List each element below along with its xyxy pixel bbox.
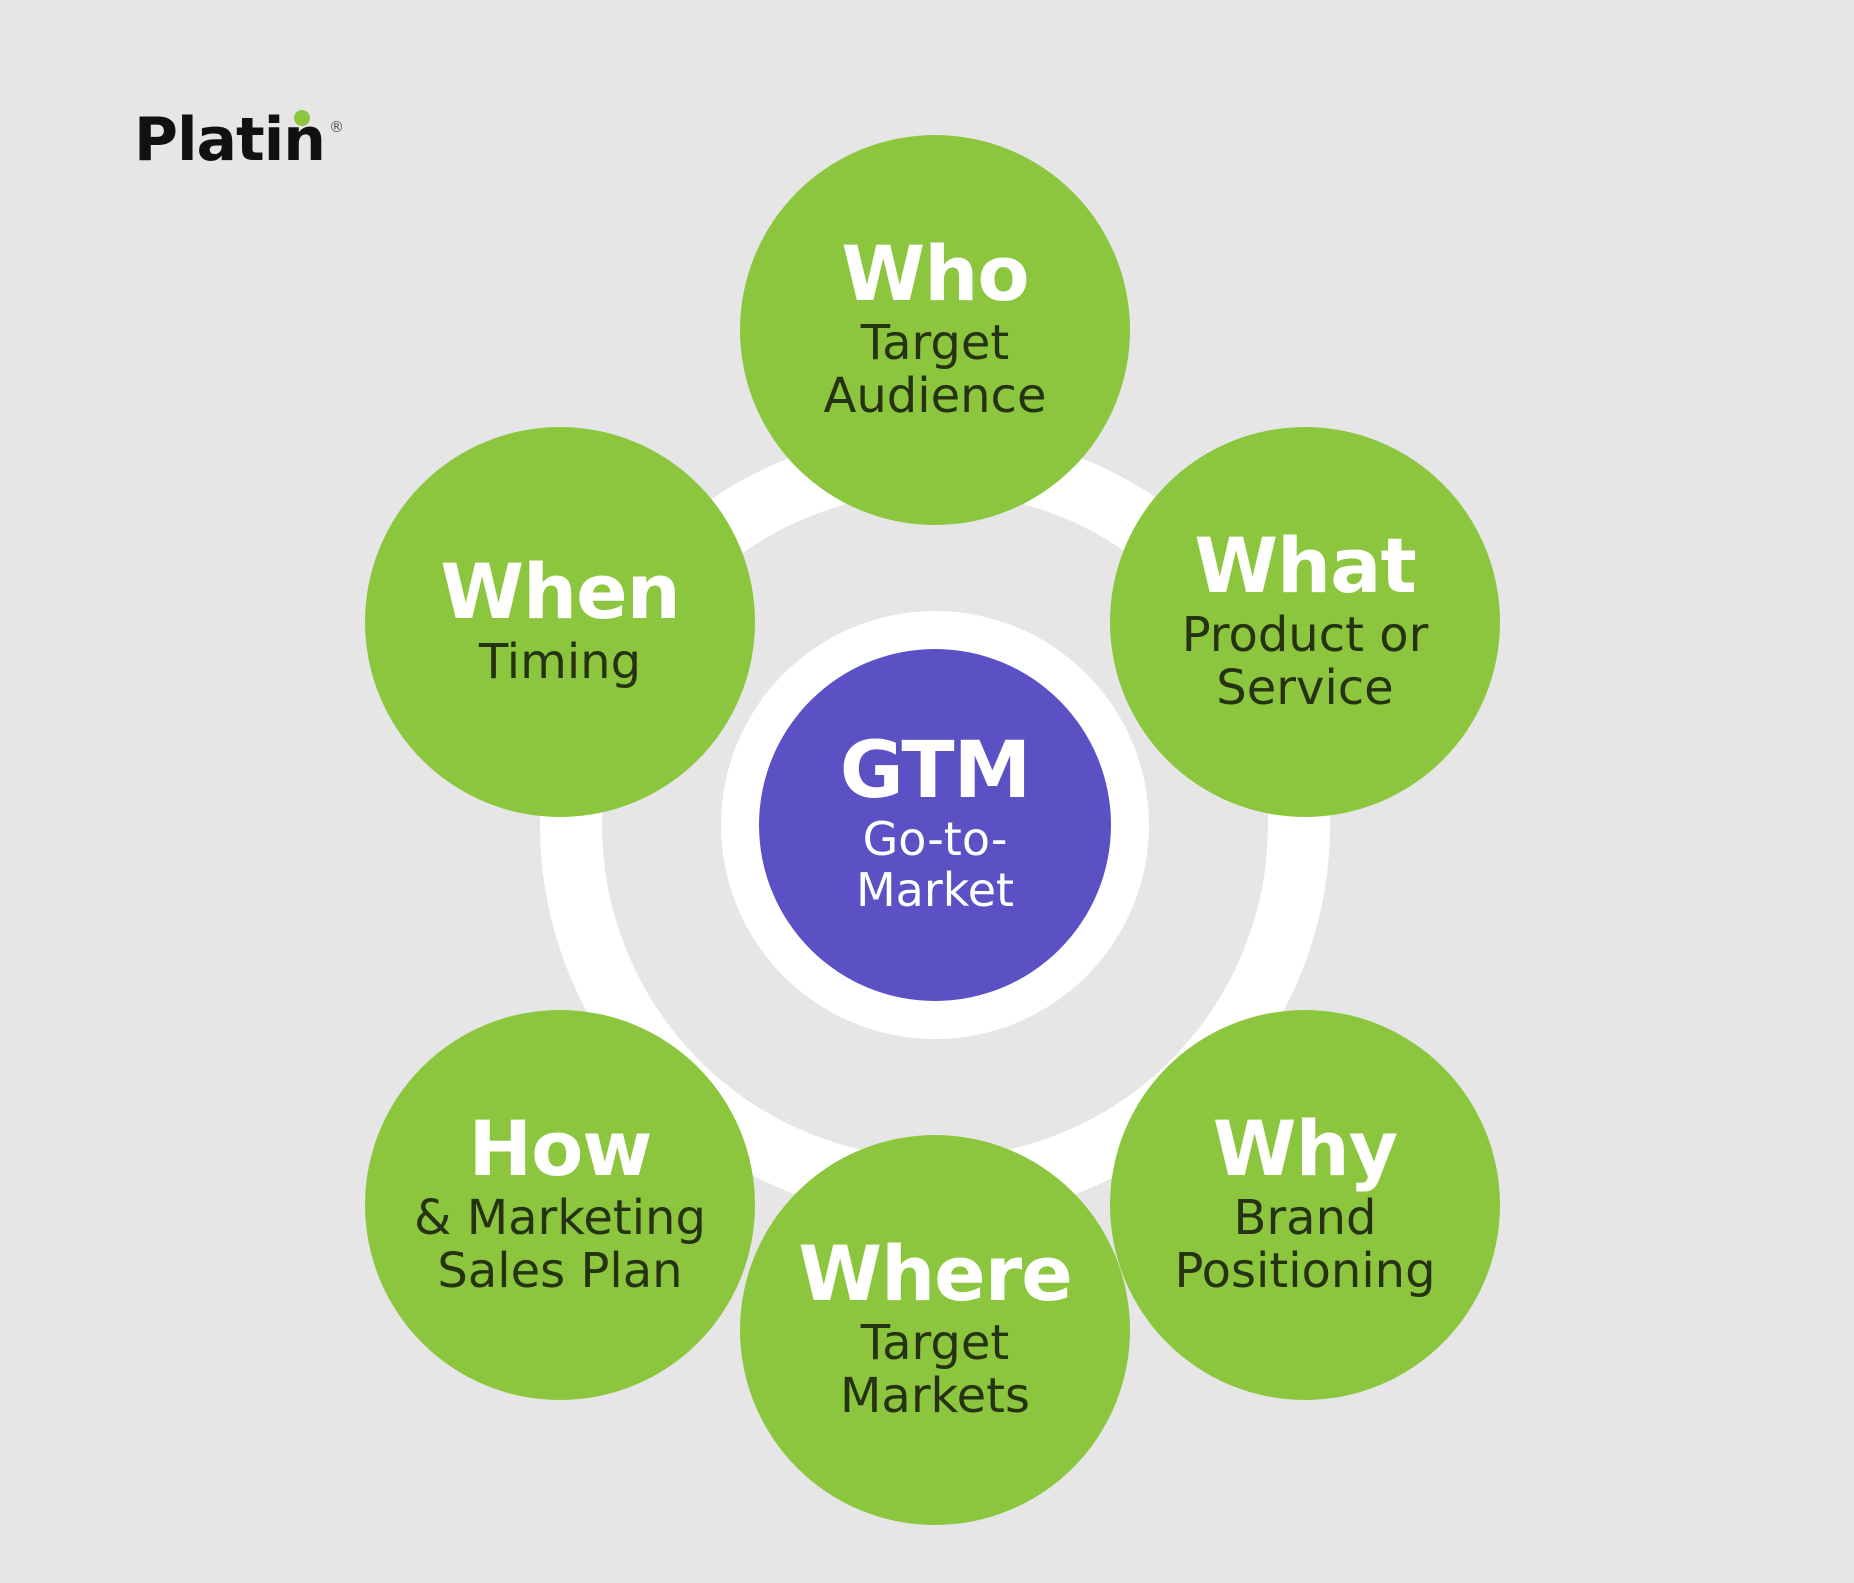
node-gtm-center[interactable]: GTM Go-to- Market: [759, 649, 1111, 1001]
node-who[interactable]: Who Target Audience: [740, 135, 1130, 525]
node-where-subtitle-line-2: Markets: [822, 1370, 1048, 1423]
node-where[interactable]: Where Target Markets: [740, 1135, 1130, 1525]
node-gtm-subtitle-line-2: Market: [838, 865, 1032, 917]
node-why-subtitle-line-2: Positioning: [1156, 1245, 1453, 1298]
node-how-subtitle-line-2: Sales Plan: [419, 1245, 700, 1298]
node-where-title: Where: [798, 1237, 1072, 1311]
node-when-title: When: [440, 555, 680, 629]
node-who-subtitle-line-2: Audience: [806, 370, 1065, 423]
node-what-title: What: [1194, 529, 1416, 603]
node-why-subtitle-line-1: Brand: [1216, 1192, 1395, 1245]
node-why-title: Why: [1213, 1112, 1397, 1186]
node-when-subtitle-line-1: Timing: [461, 636, 659, 689]
node-what-subtitle-line-1: Product or: [1164, 609, 1447, 662]
node-who-subtitle-line-1: Target: [843, 317, 1028, 370]
node-when[interactable]: When Timing: [365, 427, 755, 817]
node-who-title: Who: [841, 237, 1028, 311]
node-how-title: How: [468, 1112, 651, 1186]
node-gtm-title: GTM: [840, 733, 1030, 809]
node-gtm-subtitle-line-1: Go-to-: [845, 814, 1026, 866]
node-how-subtitle-line-1: & Marketing: [396, 1192, 724, 1245]
node-what-subtitle-line-2: Service: [1198, 662, 1411, 715]
logo-dot-icon: [294, 110, 310, 126]
registered-mark-icon: ®: [329, 118, 344, 136]
node-how[interactable]: How & Marketing Sales Plan: [365, 1010, 755, 1400]
node-why[interactable]: Why Brand Positioning: [1110, 1010, 1500, 1400]
center-node-halo: GTM Go-to- Market: [721, 611, 1149, 1039]
node-what[interactable]: What Product or Service: [1110, 427, 1500, 817]
node-where-subtitle-line-1: Target: [843, 1317, 1028, 1370]
gtm-framework-diagram: Who Target Audience What Product or Serv…: [305, 135, 1565, 1515]
